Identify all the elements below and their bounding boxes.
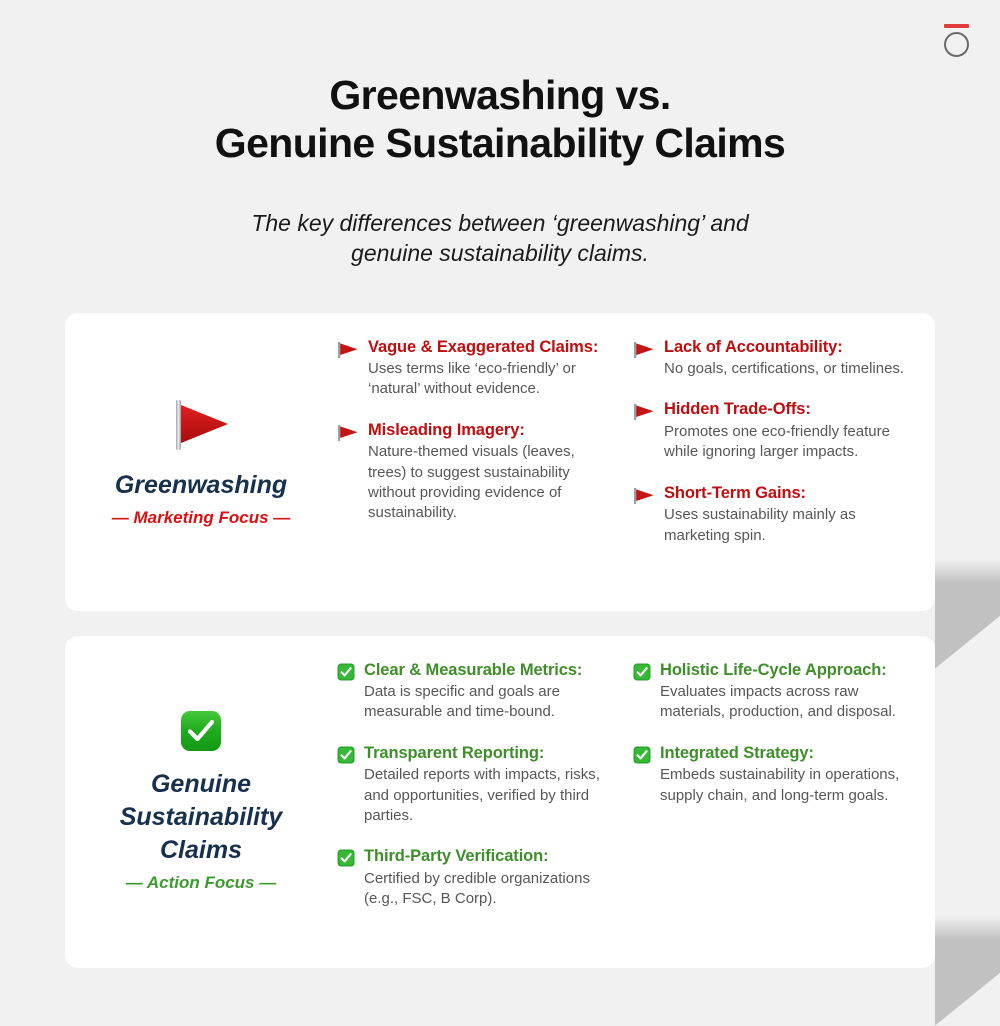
genuine-column-2: Holistic Life-Cycle Approach: Evaluates … (633, 660, 911, 946)
list-item-text: Clear & Measurable Metrics: Data is spec… (364, 660, 615, 723)
page-subtitle-line-1: The key differences between ‘greenwashin… (0, 208, 1000, 238)
list-item: Misleading Imagery: Nature-themed visual… (337, 420, 615, 524)
genuine-column-1: Clear & Measurable Metrics: Data is spec… (337, 660, 615, 946)
card-fold-shadow (935, 916, 1000, 1026)
list-item-text: Misleading Imagery: Nature-themed visual… (368, 420, 615, 524)
greenwashing-column-1: Vague & Exaggerated Claims: Uses terms l… (337, 337, 615, 589)
list-item: Lack of Accountability: No goals, certif… (633, 337, 911, 380)
list-item: Short-Term Gains: Uses sustainability ma… (633, 483, 911, 546)
list-item-description: Uses sustainability mainly as marketing … (664, 505, 911, 546)
list-item-title: Short-Term Gains: (664, 483, 911, 504)
list-item-text: Lack of Accountability: No goals, certif… (664, 337, 911, 380)
card-fold-shadow (935, 559, 1000, 669)
list-item-title: Misleading Imagery: (368, 420, 615, 441)
list-item-text: Third-Party Verification: Certified by c… (364, 846, 615, 909)
list-item-description: Data is specific and goals are measurabl… (364, 682, 615, 723)
red-flag-bullet-icon (337, 341, 359, 359)
list-item-text: Short-Term Gains: Uses sustainability ma… (664, 483, 911, 546)
green-check-bullet-icon (337, 746, 355, 764)
red-flag-bullet-icon (633, 487, 655, 505)
list-item-description: No goals, certifications, or timelines. (664, 359, 911, 379)
green-check-bullet-icon (337, 663, 355, 681)
red-flag-icon (170, 395, 232, 453)
red-flag-bullet-icon (633, 403, 655, 421)
list-item: Vague & Exaggerated Claims: Uses terms l… (337, 337, 615, 400)
list-item-description: Evaluates impacts across raw materials, … (660, 682, 911, 723)
greenwashing-card-wrapper: Greenwashing — Marketing Focus — Vague &… (65, 313, 935, 611)
genuine-panel-title: Genuine Sustainability Claims (79, 768, 323, 867)
list-item-description: Certified by credible organizations (e.g… (364, 869, 615, 910)
page-title-line-2: Genuine Sustainability Claims (0, 120, 1000, 168)
list-item-text: Transparent Reporting: Detailed reports … (364, 743, 615, 827)
list-item-description: Detailed reports with impacts, risks, an… (364, 765, 615, 826)
greenwashing-panel-subtitle: — Marketing Focus — (112, 508, 291, 528)
greenwashing-columns: Vague & Exaggerated Claims: Uses terms l… (337, 313, 935, 611)
greenwashing-card: Greenwashing — Marketing Focus — Vague &… (65, 313, 935, 611)
list-item-title: Lack of Accountability: (664, 337, 911, 358)
list-item-description: Nature-themed visuals (leaves, trees) to… (368, 442, 615, 524)
logo-ring-icon (944, 32, 969, 57)
list-item-title: Transparent Reporting: (364, 743, 615, 764)
list-item-description: Embeds sustainability in operations, sup… (660, 765, 911, 806)
page-header: Greenwashing vs. Genuine Sustainability … (0, 0, 1000, 269)
list-item-title: Clear & Measurable Metrics: (364, 660, 615, 681)
greenwashing-identity-panel: Greenwashing — Marketing Focus — (65, 313, 337, 611)
page-subtitle-line-2: genuine sustainability claims. (0, 238, 1000, 268)
greenwashing-panel-title: Greenwashing (115, 469, 287, 502)
green-check-bullet-icon (633, 746, 651, 764)
red-flag-bullet-icon (337, 424, 359, 442)
green-check-bullet-icon (633, 663, 651, 681)
list-item-text: Integrated Strategy: Embeds sustainabili… (660, 743, 911, 806)
page-title-line-1: Greenwashing vs. (0, 72, 1000, 120)
brand-logo (942, 24, 970, 66)
list-item: Integrated Strategy: Embeds sustainabili… (633, 743, 911, 806)
list-item: Clear & Measurable Metrics: Data is spec… (337, 660, 615, 723)
list-item-description: Uses terms like ‘eco-friendly’ or ‘natur… (368, 359, 615, 400)
list-item-title: Third-Party Verification: (364, 846, 615, 867)
logo-red-bar-icon (944, 24, 969, 28)
list-item-title: Hidden Trade-Offs: (664, 399, 911, 420)
list-item-title: Integrated Strategy: (660, 743, 911, 764)
red-flag-bullet-icon (633, 341, 655, 359)
genuine-sustainability-card: Genuine Sustainability Claims — Action F… (65, 636, 935, 968)
list-item-text: Hidden Trade-Offs: Promotes one eco-frie… (664, 399, 911, 462)
list-item: Transparent Reporting: Detailed reports … (337, 743, 615, 827)
greenwashing-column-2: Lack of Accountability: No goals, certif… (633, 337, 911, 589)
list-item: Hidden Trade-Offs: Promotes one eco-frie… (633, 399, 911, 462)
genuine-panel-subtitle: — Action Focus — (126, 873, 277, 893)
list-item-description: Promotes one eco-friendly feature while … (664, 422, 911, 463)
genuine-columns: Clear & Measurable Metrics: Data is spec… (337, 636, 935, 968)
list-item-text: Holistic Life-Cycle Approach: Evaluates … (660, 660, 911, 723)
page-title: Greenwashing vs. Genuine Sustainability … (0, 72, 1000, 168)
list-item-text: Vague & Exaggerated Claims: Uses terms l… (368, 337, 615, 400)
list-item-title: Holistic Life-Cycle Approach: (660, 660, 911, 681)
list-item-title: Vague & Exaggerated Claims: (368, 337, 615, 358)
genuine-card-wrapper: Genuine Sustainability Claims — Action F… (65, 636, 935, 968)
green-check-bullet-icon (337, 849, 355, 867)
green-check-icon (180, 710, 222, 752)
list-item: Holistic Life-Cycle Approach: Evaluates … (633, 660, 911, 723)
list-item: Third-Party Verification: Certified by c… (337, 846, 615, 909)
genuine-identity-panel: Genuine Sustainability Claims — Action F… (65, 636, 337, 968)
page-subtitle: The key differences between ‘greenwashin… (0, 208, 1000, 269)
